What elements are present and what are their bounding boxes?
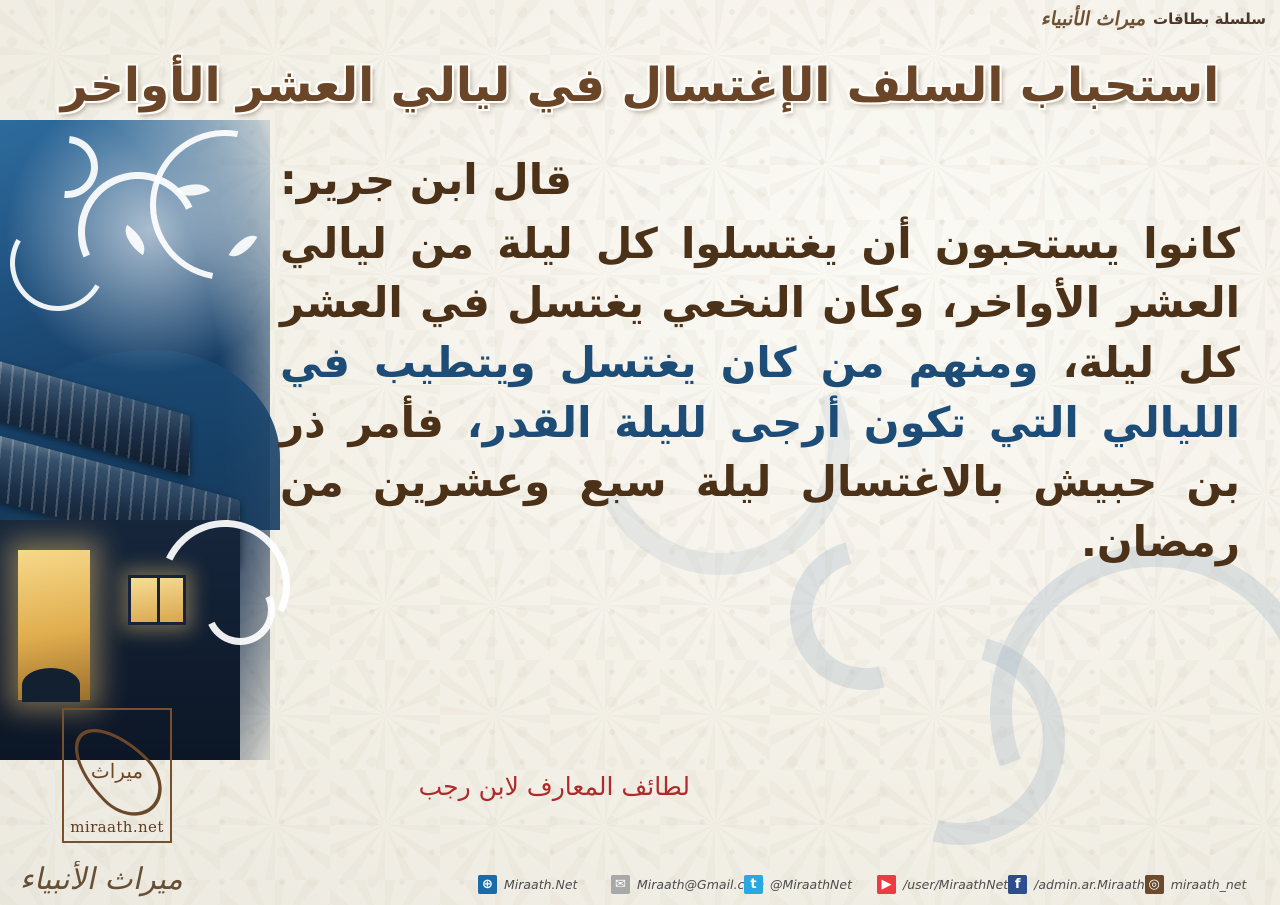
house-night-photo xyxy=(0,120,270,760)
series-label: سلسلة بطاقات ميراث الأنبياء xyxy=(1042,8,1267,30)
twitter-icon: t xyxy=(744,875,763,894)
quote-attribution-lead: قال ابن جرير: xyxy=(280,150,1240,210)
social-item[interactable]: t@MiraathNet xyxy=(744,872,877,897)
quote-body: قال ابن جرير:كانوا يستحبون أن يغتسلوا كل… xyxy=(280,150,1240,571)
social-item[interactable]: ✉Miraath@Gmail.com xyxy=(611,872,744,897)
social-item[interactable]: ⊕Miraath.Net xyxy=(478,872,611,897)
social-handle-text: /user/MiraathNet xyxy=(903,877,1008,892)
facebook-icon: f xyxy=(1008,875,1027,894)
brand-calligraphy-footer: ميراث الأنبياء xyxy=(18,862,188,897)
youtube-icon: ▶ xyxy=(877,875,896,894)
social-item[interactable]: ◎miraath_net xyxy=(1145,872,1247,897)
miraath-logo-stamp: ميراث miraath.net xyxy=(62,708,172,843)
social-item[interactable]: f/admin.ar.Miraath xyxy=(1008,872,1145,897)
teardrop-emblem-glyph: ميراث xyxy=(86,759,148,783)
social-handle-text: /admin.ar.Miraath xyxy=(1034,877,1145,892)
teardrop-emblem-icon: ميراث xyxy=(86,729,148,813)
social-handle-text: miraath_net xyxy=(1171,877,1247,892)
page-title: استحباب السلف الإغتسال في ليالي العشر ال… xyxy=(0,58,1280,113)
miraath-url-text: miraath.net xyxy=(70,818,164,836)
series-label-text: سلسلة بطاقات xyxy=(1153,10,1266,28)
globe-icon: ⊕ xyxy=(478,875,497,894)
social-item[interactable]: ▶/user/MiraathNet xyxy=(877,872,1008,897)
email-icon: ✉ xyxy=(611,875,630,894)
source-reference: لطائف المعارف لابن رجب xyxy=(419,772,690,801)
social-links: ⊕Miraath.Net✉Miraath@Gmail.comt@MiraathN… xyxy=(478,872,1246,897)
instagram-icon: ◎ xyxy=(1145,875,1164,894)
house-door-figure xyxy=(22,668,80,702)
series-brand-calligraphy: ميراث الأنبياء xyxy=(1040,8,1148,30)
card-canvas: سلسلة بطاقات ميراث الأنبياء استحباب السل… xyxy=(0,0,1280,905)
social-handle-text: @MiraathNet xyxy=(770,877,852,892)
social-handle-text: Miraath.Net xyxy=(504,877,577,892)
